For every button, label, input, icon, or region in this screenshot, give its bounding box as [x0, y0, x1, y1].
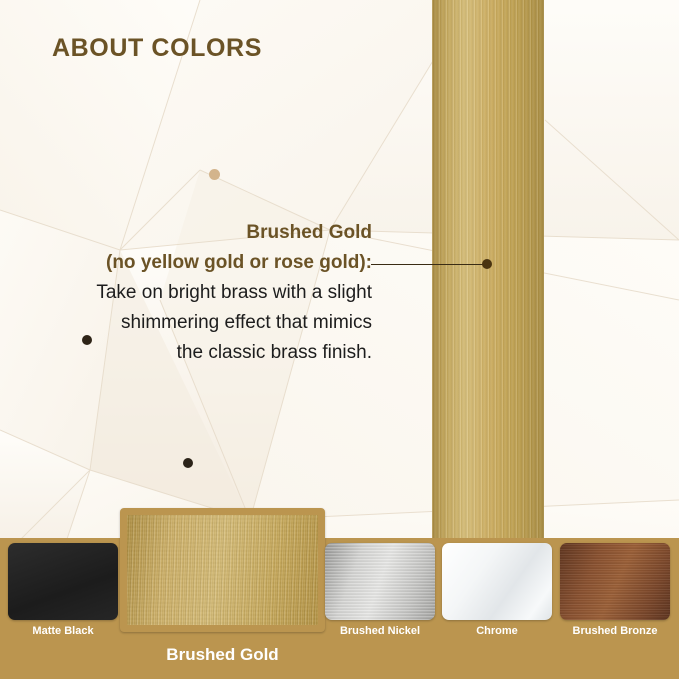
callout-line-1: Brushed Gold: [36, 218, 372, 248]
decorative-dot-dark-lower: [183, 458, 193, 468]
decorative-dot-tan: [209, 169, 220, 180]
swatch-brushed-gold-featured[interactable]: [120, 508, 325, 632]
callout-leader-endpoint-dot: [482, 259, 492, 269]
swatch-chrome[interactable]: [442, 543, 552, 620]
hero-brushed-gold-bar: [432, 0, 544, 540]
swatch-matte-black[interactable]: [8, 543, 118, 620]
callout-line-4: shimmering effect that mimics: [36, 308, 372, 338]
swatch-brushed-bronze[interactable]: [560, 543, 670, 620]
callout-leader-line: [371, 264, 487, 265]
swatch-label-brushed-gold: Brushed Gold: [120, 645, 325, 665]
swatch-brushed-nickel[interactable]: [325, 543, 435, 620]
callout-line-2: (no yellow gold or rose gold):: [36, 248, 372, 278]
page-title: ABOUT COLORS: [52, 34, 262, 63]
swatch-label-chrome: Chrome: [442, 625, 552, 637]
swatch-label-brushed-nickel: Brushed Nickel: [320, 625, 440, 637]
swatch-label-brushed-bronze: Brushed Bronze: [555, 625, 675, 637]
swatch-label-matte-black: Matte Black: [8, 625, 118, 637]
product-color-infographic: ABOUT COLORS Brushed Gold (no yellow gol…: [0, 0, 679, 679]
callout-text-block: Brushed Gold (no yellow gold or rose gol…: [36, 218, 372, 368]
callout-line-3: Take on bright brass with a slight: [36, 278, 372, 308]
decorative-dot-dark-upper: [82, 335, 92, 345]
